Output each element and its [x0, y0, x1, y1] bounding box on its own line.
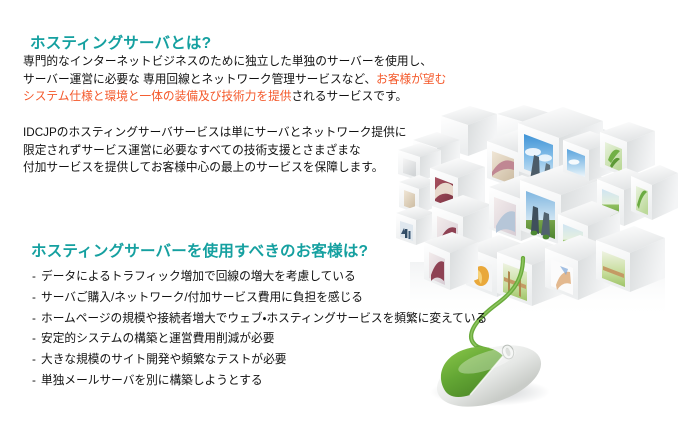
- audience-bullet-item: -データによるトラフィック増加で回線の増大を考慮している: [32, 267, 487, 288]
- audience-bullet-label: ホームページの規模や接続者増大でウェブ・ホスティングサービスを頻繁に変えている: [41, 312, 487, 325]
- audience-bullet-item: -ホームページの規模や接続者増大でウェブ・ホスティングサービスを頻繁に変えている: [32, 309, 487, 330]
- paragraph-text-highlight: お客様が望む: [376, 73, 446, 86]
- paragraph-text-highlight: システム仕様と環境と一体の装備及び技術力を提供: [23, 90, 291, 103]
- audience-bullet-label: データによるトラフィック増加で回線の増大を考慮している: [41, 270, 356, 283]
- bullet-dash-marker: -: [32, 288, 41, 309]
- cube-photo-bigsky: [518, 107, 603, 186]
- section-audience-heading: ホスティングサーバーを使用すべきのお客様は?: [31, 239, 368, 261]
- bullet-dash-marker: -: [32, 267, 41, 288]
- audience-bullet-item: -単独メールサーバを別に構築しようとする: [32, 371, 487, 392]
- audience-bullet-label: 安定的システムの構築と運営費用削減が必要: [41, 332, 274, 345]
- cube-plain: [497, 105, 550, 150]
- cube-photo-skyline: [489, 175, 553, 241]
- audience-bullet-item: -大きな規模のサイト開発や頻繁なテストが必要: [32, 350, 487, 371]
- audience-bullet-label: サーバご購入/ネットワーク/付加サービス費用に負担を感じる: [41, 291, 363, 304]
- paragraph-text-plain: サーバー運営に必要な 専用回線とネットワーク管理サービスなど、: [23, 73, 376, 86]
- paragraph-line: 付加サービスを提供してお客様中心の最上のサービスを保障します。: [23, 159, 406, 177]
- section-about-heading: ホスティングサーバとは?: [30, 31, 211, 53]
- cube-plain: [441, 106, 497, 156]
- cube-photo-field: [597, 168, 652, 226]
- paragraph-line: 限定されずサービス運営に必要なすべての技術支援とさまざまな: [23, 142, 406, 160]
- paragraph-line: 専門的なインターネットビジネスのために独立した単独のサーバーを使用し、: [23, 53, 446, 71]
- cube-photo-leaf-top: [600, 122, 655, 177]
- cube-photo-curtain: [430, 158, 485, 213]
- cube-photo-city-small: [396, 206, 435, 245]
- cube-photo-greenfield-mid: [558, 201, 620, 262]
- cube-plain: [557, 122, 606, 166]
- cube-photo-leaf-side: [631, 165, 678, 220]
- bullet-dash-marker: -: [32, 371, 41, 392]
- paragraph-line: サーバー運営に必要な 専用回線とネットワーク管理サービスなど、お客様が望む: [23, 71, 446, 89]
- audience-bullet-item: -安定的システムの構築と運営費用削減が必要: [32, 329, 487, 350]
- bullet-dash-marker: -: [32, 350, 41, 371]
- audience-bullet-label: 大きな規模のサイト開発や頻繁なテストが必要: [41, 353, 286, 366]
- paragraph-line: システム仕様と環境と一体の装備及び技術力を提供されるサービスです。: [23, 88, 446, 106]
- cube-photo-hand: [545, 235, 610, 300]
- audience-bullet-list: -データによるトラフィック増加で回線の増大を考慮している-サーバご購入/ネットワ…: [32, 267, 487, 392]
- section-about-paragraph-2: IDCJPのホスティングサーバサービスは単にサーバとネットワーク提供に 限定され…: [23, 124, 406, 177]
- cube-photo-beige: [399, 175, 438, 214]
- audience-bullet-label: 単独メールサーバを別に構築しようとする: [41, 374, 263, 387]
- paragraph-text-plain: されるサービスです。: [291, 90, 407, 103]
- paragraph-line: IDCJPのホスティングサーバサービスは単にサーバとネットワーク提供に: [23, 124, 406, 142]
- cube-photo-map-top: [487, 128, 553, 190]
- page-root: ホスティングサーバとは? 専門的なインターネットビジネスのために独立した単独のサ…: [0, 0, 680, 425]
- cube-photo-city-green: [520, 164, 605, 245]
- bullet-dash-marker: -: [32, 329, 41, 350]
- bullet-dash-marker: -: [32, 309, 41, 330]
- cube-photo-grass-right: [596, 226, 665, 292]
- cube-photo-fence-grass: [497, 238, 568, 306]
- audience-bullet-item: -サーバご購入/ネットワーク/付加サービス費用に負担を感じる: [32, 288, 487, 309]
- cube-plain: [413, 132, 460, 174]
- cube-photo-map-large: [432, 195, 492, 256]
- cube-photo-sky2: [563, 131, 615, 181]
- section-about-paragraph-1: 専門的なインターネットビジネスのために独立した単独のサーバーを使用し、 サーバー…: [23, 53, 446, 106]
